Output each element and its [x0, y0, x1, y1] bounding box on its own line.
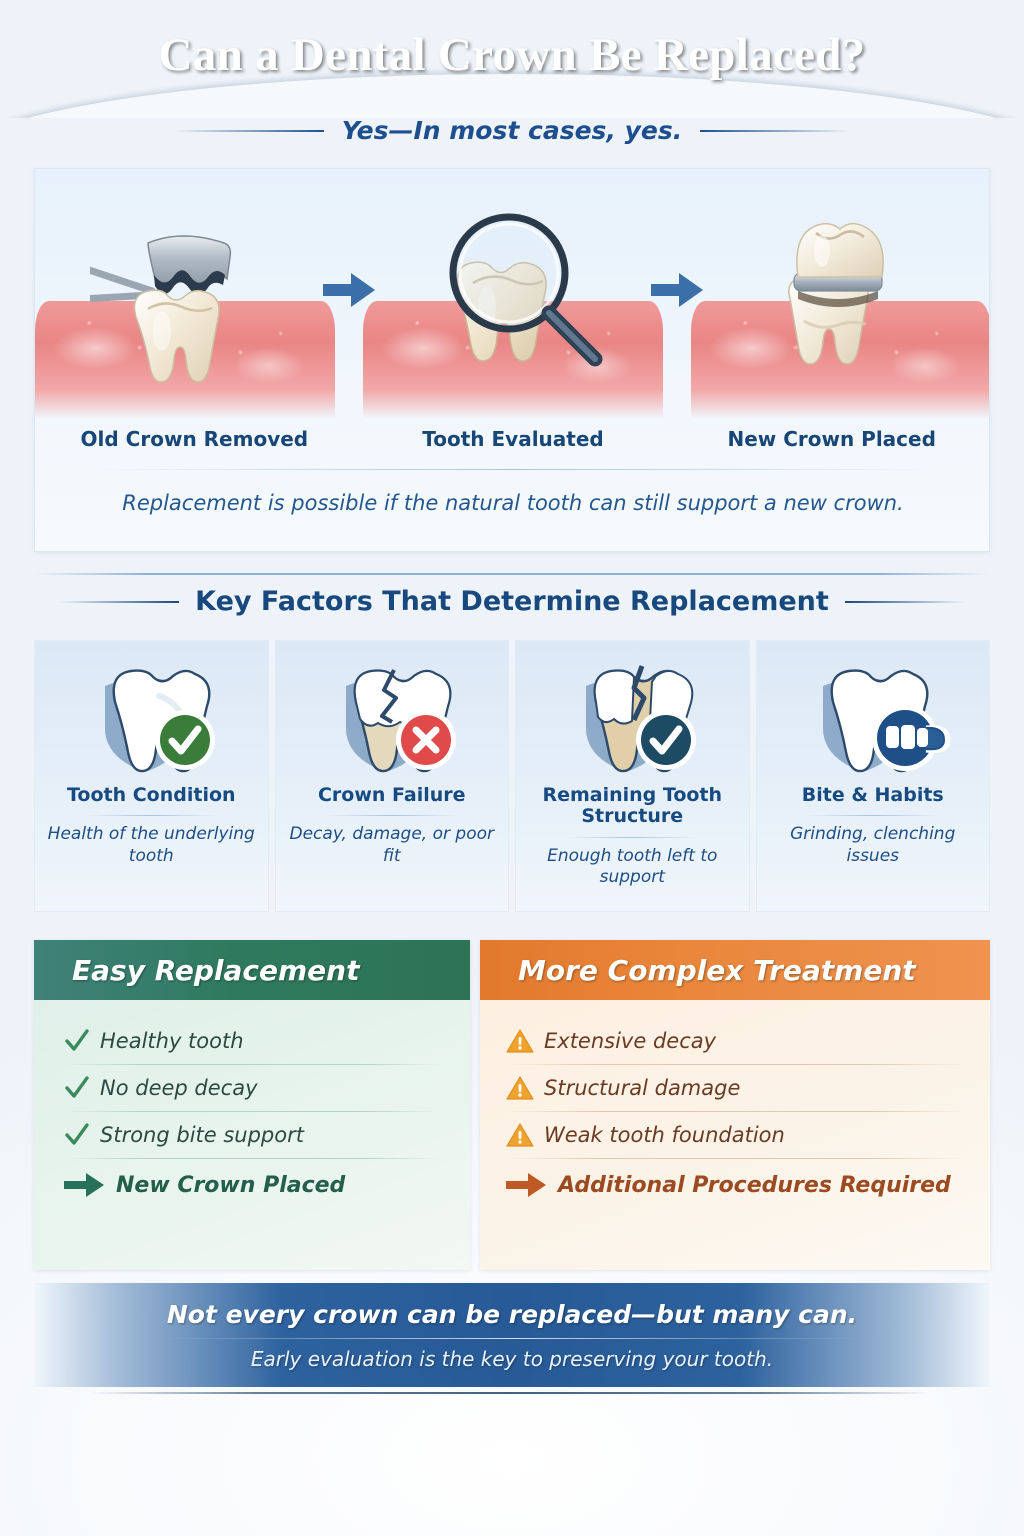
factor-title: Crown Failure	[312, 785, 472, 806]
healthy-tooth-icon	[71, 658, 231, 780]
factor-divider	[327, 815, 457, 816]
cracked-tooth-icon	[312, 658, 472, 780]
process-divider	[91, 469, 935, 470]
factor-divider	[86, 815, 216, 816]
magnifier-tooth-icon	[413, 203, 613, 413]
subtitle-rule-left	[174, 130, 324, 132]
key-factors-heading: Key Factors That Determine Replacement	[195, 586, 829, 617]
easy-bullet-item: Healthy tooth	[64, 1018, 440, 1064]
complex-bullet-label: Weak tooth foundation	[544, 1123, 785, 1147]
process-panel: Old Crown Removed Tooth Evaluated New Cr…	[34, 168, 990, 552]
complex-bullet-item: Weak tooth foundation	[506, 1112, 964, 1158]
subtitle-rule-right	[700, 130, 850, 132]
tooth-with-bite-guard-icon	[793, 658, 953, 780]
page-title: Can a Dental Crown Be Replaced?	[0, 0, 1024, 82]
easy-bullet-item: Strong bite support	[64, 1112, 440, 1158]
easy-replacement-panel: Easy Replacement Healthy tooth No deep d…	[34, 940, 470, 1270]
complex-outcome-label: Additional Procedures Required	[558, 1173, 951, 1198]
easy-bullet-label: Healthy tooth	[100, 1029, 244, 1053]
footer-underline	[90, 1392, 930, 1394]
complex-panel-body: Extensive decay Structural damage	[480, 1000, 990, 1270]
factor-icon-wrap	[552, 653, 712, 785]
check-icon	[64, 1122, 90, 1148]
factor-description: Decay, damage, or poor fit	[276, 824, 509, 868]
easy-bullet-label: Strong bite support	[100, 1123, 304, 1147]
heading-rule-left	[59, 601, 179, 603]
process-note: Replacement is possible if the natural t…	[35, 491, 990, 515]
process-arrow-1-cell	[335, 169, 363, 419]
warning-triangle-icon	[506, 1075, 534, 1101]
check-icon	[64, 1075, 90, 1101]
heading-rule-right	[845, 601, 965, 603]
forceps-removing-crown-icon	[90, 213, 280, 413]
complex-bullet-item: Structural damage	[506, 1065, 964, 1111]
factor-icon-wrap	[71, 653, 231, 785]
factor-title: Bite & Habits	[796, 785, 950, 806]
easy-outcome-row: New Crown Placed	[64, 1159, 440, 1211]
factor-icon-wrap	[312, 653, 472, 785]
complex-bullet-label: Structural damage	[544, 1076, 740, 1100]
process-step-2-art	[363, 169, 663, 419]
factor-divider	[808, 815, 938, 816]
factor-description: Health of the underlying tooth	[35, 824, 268, 868]
easy-bullet-label: No deep decay	[100, 1076, 258, 1100]
factor-divider	[567, 837, 697, 838]
easy-panel-heading: Easy Replacement	[34, 940, 470, 1000]
new-crown-placed-icon	[746, 203, 936, 413]
factor-icon-wrap	[793, 653, 953, 785]
factor-description: Enough tooth left to support	[516, 846, 749, 890]
warning-triangle-icon	[506, 1028, 534, 1054]
warning-triangle-icon	[506, 1122, 534, 1148]
complex-panel-heading: More Complex Treatment	[480, 940, 990, 1000]
factor-card-remaining-structure: Remaining Tooth Structure Enough tooth l…	[515, 640, 750, 912]
easy-outcome-label: New Crown Placed	[116, 1173, 345, 1198]
factor-card-bite-habits: Bite & Habits Grinding, clenching issues	[756, 640, 991, 912]
process-step-label: New Crown Placed	[672, 427, 990, 451]
subtitle-row: Yes—In most cases, yes.	[0, 116, 1024, 145]
process-illustration-row	[35, 169, 990, 419]
key-factors-heading-row: Key Factors That Determine Replacement	[0, 586, 1024, 617]
process-step-label: Tooth Evaluated	[354, 427, 673, 451]
process-step-1-art	[35, 169, 335, 419]
factor-title: Tooth Condition	[61, 785, 242, 806]
complex-bullet-label: Extensive decay	[544, 1029, 716, 1053]
subtitle: Yes—In most cases, yes.	[342, 116, 683, 145]
complex-treatment-panel: More Complex Treatment Extensive decay	[480, 940, 990, 1270]
check-icon	[64, 1028, 90, 1054]
right-arrow-icon	[64, 1173, 104, 1197]
factor-description: Grinding, clenching issues	[757, 824, 990, 868]
footer-divider	[162, 1338, 862, 1339]
easy-bullet-item: No deep decay	[64, 1065, 440, 1111]
factor-card-crown-failure: Crown Failure Decay, damage, or poor fit	[275, 640, 510, 912]
footer-headline: Not every crown can be replaced—but many…	[167, 1300, 857, 1329]
easy-panel-body: Healthy tooth No deep decay Strong bite …	[34, 1000, 470, 1270]
right-arrow-icon	[506, 1173, 546, 1197]
process-step-3-art	[691, 169, 990, 419]
footer-subline: Early evaluation is the key to preservin…	[251, 1347, 773, 1371]
process-step-label: Old Crown Removed	[35, 427, 354, 451]
footer-banner: Not every crown can be replaced—but many…	[34, 1283, 990, 1387]
infographic-page: Can a Dental Crown Be Replaced? Yes—In m…	[0, 0, 1024, 1536]
process-arrow-2-cell	[663, 169, 691, 419]
split-tooth-icon	[552, 658, 712, 780]
factor-card-tooth-condition: Tooth Condition Health of the underlying…	[34, 640, 269, 912]
section-divider	[34, 573, 990, 575]
comparison-panels: Easy Replacement Healthy tooth No deep d…	[34, 940, 990, 1270]
complex-outcome-row: Additional Procedures Required	[506, 1159, 964, 1211]
title-banner: Can a Dental Crown Be Replaced?	[0, 0, 1024, 118]
complex-bullet-item: Extensive decay	[506, 1018, 964, 1064]
process-step-labels: Old Crown Removed Tooth Evaluated New Cr…	[35, 427, 990, 451]
factor-cards: Tooth Condition Health of the underlying…	[34, 640, 990, 912]
factor-title: Remaining Tooth Structure	[516, 785, 749, 828]
